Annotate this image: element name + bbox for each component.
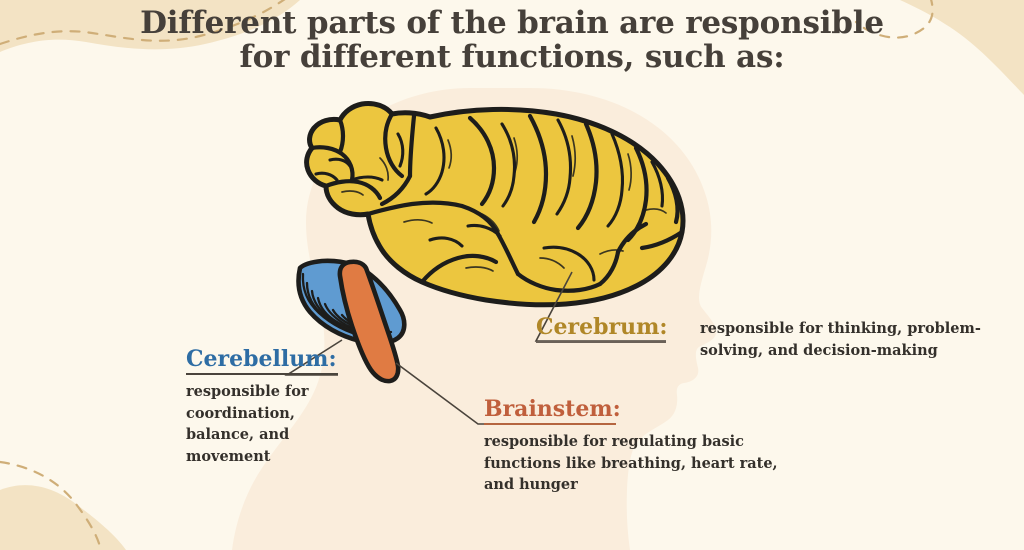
- callout-cerebrum-underline: [536, 341, 666, 343]
- callout-cerebellum: Cerebellum: responsible for coordination…: [186, 346, 356, 467]
- callout-brainstem: Brainstem: responsible for regulating ba…: [484, 396, 784, 496]
- page-title: Different parts of the brain are respons…: [0, 6, 1024, 74]
- callout-cerebrum-description: responsible for thinking, problem-solvin…: [700, 318, 990, 361]
- callout-brainstem-description: responsible for regulating basic functio…: [484, 431, 784, 496]
- infographic-canvas: Different parts of the brain are respons…: [0, 0, 1024, 550]
- page-title-line1: Different parts of the brain are respons…: [140, 5, 884, 41]
- text-content-layer: Different parts of the brain are respons…: [0, 0, 1024, 550]
- callout-cerebrum-term: Cerebrum:: [536, 314, 667, 340]
- page-title-line2: for different functions, such as:: [0, 40, 1024, 74]
- callout-brainstem-underline: [484, 423, 616, 425]
- callout-cerebrum: Cerebrum:: [536, 314, 667, 343]
- callout-cerebellum-underline: [186, 373, 338, 375]
- callout-cerebellum-term: Cerebellum:: [186, 346, 356, 372]
- callout-cerebellum-description: responsible for coordination, balance, a…: [186, 381, 356, 467]
- callout-brainstem-term: Brainstem:: [484, 396, 784, 422]
